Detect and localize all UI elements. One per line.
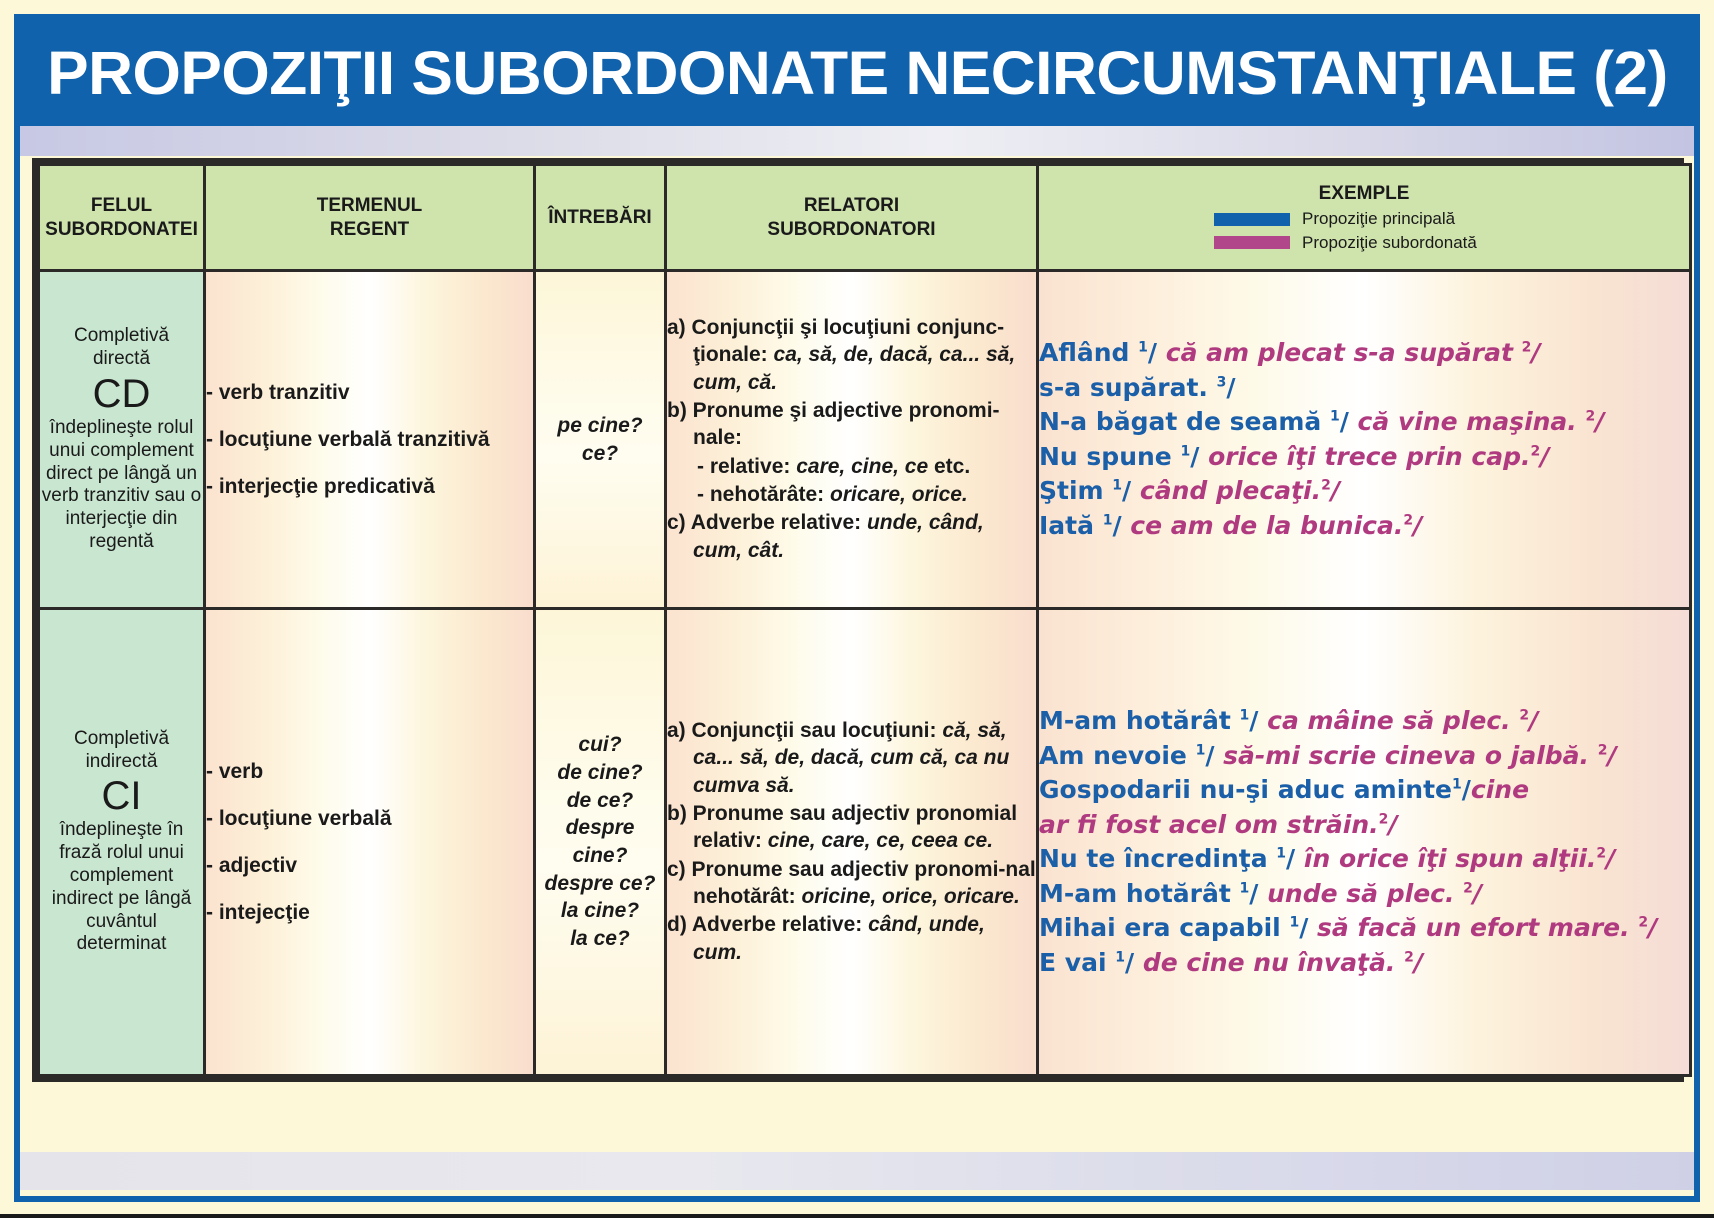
clause-principala: / [1125,948,1143,977]
exemple-title: EXEMPLE [1039,182,1689,205]
relator-lead: a) Conjuncţii sau locuţiuni: [667,719,942,742]
clause-principala: / [1122,476,1140,505]
table-row-ci: Completivă indirectă CI îndeplineşte în … [39,609,1691,1076]
clause-number: 2 [1403,512,1413,528]
question-item: la cine? [536,897,664,925]
title-banner: PROPOZIŢII SUBORDONATE NECIRCUMSTANŢIALE… [20,20,1694,126]
clause-subordonata: de cine nu învaţă. 2 [1143,948,1414,977]
header-line-1: ÎNTREBĂRI [536,206,664,229]
legend-item-principala: Propoziţie principală [1214,209,1455,230]
example-line: M-am hotărât 1/ unde să plec. 2/ [1039,877,1689,912]
clause-principala: Iată 1 [1039,511,1112,540]
kind-name-line2: directă [40,348,203,371]
clause-subordonata: / [1413,511,1422,540]
relator-lead: a) Conjuncţii şi locuţiuni conjunc- [667,316,1004,339]
clause-number: 2 [1531,443,1541,459]
example-line: Nu te încredinţa 1/ în orice îţi spun al… [1039,842,1689,877]
clause-principala: / [1190,442,1208,471]
relator-lead: d) Adverbe relative: [667,913,868,936]
decorative-band-top [20,126,1694,156]
page-title: PROPOZIŢII SUBORDONATE NECIRCUMSTANŢIALE… [47,38,1668,108]
example-line: ar fi fost acel om străin.2/ [1039,808,1689,843]
legend-swatch-blue-icon [1214,213,1290,226]
clause-subordonata: ca mâine să plec. 2 [1267,706,1529,735]
clause-subordonata: ar fi fost acel om străin.2 [1039,810,1388,839]
clause-number: 1 [1196,742,1206,758]
example-line: Iată 1/ ce am de la bunica.2/ [1039,509,1689,544]
cell-relatori-ci: a) Conjuncţii sau locuţiuni: că, să, ca.… [666,609,1038,1076]
clause-number: 2 [1463,880,1473,896]
relator-item-a: a) Conjuncţii şi locuţiuni conjunc- ţion… [667,314,1036,396]
clause-number: 2 [1522,340,1532,356]
kind-description: îndeplineşte rolul unui complement direc… [40,417,203,554]
clause-subordonata: / [1531,338,1540,367]
clause-number: 2 [1519,708,1529,724]
legend: Propoziţie principală Propoziţie subordo… [1214,209,1514,253]
relator-lead2: nale: [693,426,742,449]
header-line-2: SUBORDONATEI [40,218,203,241]
clause-principala: / [1286,844,1304,873]
header-line-1: RELATORI [667,194,1036,217]
clause-principala: / [1148,338,1166,367]
clause-principala: N-a băgat de seamă 1 [1039,407,1340,436]
legend-label-subordonata: Propoziţie subordonată [1302,233,1477,254]
clause-number: 1 [1103,512,1113,528]
clause-principala: s-a supărat. 3 [1039,373,1226,402]
term-item: - locuţiune verbală [206,807,533,831]
clause-number: 1 [1115,949,1125,965]
clause-subordonata: / [1388,810,1397,839]
clause-subordonata: să facă un efort mare. 2 [1317,913,1648,942]
clause-subordonata: că am plecat s-a supărat 2 [1166,338,1532,367]
clause-principala: M-am hotărât 1 [1039,879,1249,908]
cell-exemple-ci: M-am hotărât 1/ ca mâine să plec. 2/Am n… [1038,609,1691,1076]
relator-italic: oricine, orice, oricare. [802,885,1020,908]
table-body: Completivă directă CD îndeplineşte rolul… [39,271,1691,1076]
clause-number: 2 [1586,409,1596,425]
clause-number: 2 [1321,478,1331,494]
example-line: s-a supărat. 3/ [1039,371,1689,406]
clause-number: 1 [1138,340,1148,356]
table-row-cd: Completivă directă CD îndeplineşte rolul… [39,271,1691,609]
cell-intrebari-ci: cui? de cine? de ce? despre cine? despre… [535,609,666,1076]
clause-subordonata: unde să plec. 2 [1267,879,1473,908]
header-row: FELUL SUBORDONATEI TERMENUL REGENT ÎNTRE… [39,165,1691,271]
column-header-intrebari: ÎNTREBĂRI [535,165,666,271]
question-item: pe cine? [536,412,664,440]
kind-abbreviation-cd: CD [40,371,203,417]
clause-principala: Am nevoie 1 [1039,741,1205,770]
header-line-2: SUBORDONATORI [667,218,1036,241]
relator-lead: c) Adverbe relative: [667,511,867,534]
clause-number: 2 [1379,811,1389,827]
example-line: N-a băgat de seamă 1/ că vine maşina. 2/ [1039,405,1689,440]
question-item: la ce? [536,925,664,953]
relator-item-d: d) Adverbe relative: când, unde, cum. [667,911,1036,966]
cell-felul-ci: Completivă indirectă CI îndeplineşte în … [39,609,205,1076]
example-line: Am nevoie 1/ să-mi scrie cineva o jalbă.… [1039,739,1689,774]
term-item: - interjecţie predicativă [206,475,533,499]
clause-principala: Aflând 1 [1039,338,1148,367]
clause-subordonata: / [1540,442,1549,471]
clause-principala: / [1299,913,1317,942]
term-item: - verb tranzitiv [206,381,533,405]
term-item: - locuţiune verbală tranzitivă [206,428,533,452]
clause-subordonata: să-mi scrie cineva o jalbă. 2 [1223,741,1607,770]
cell-termenul-regent-ci: - verb - locuţiune verbală - adjectiv - … [205,609,535,1076]
relator-item-relative: - relative: care, cine, ce etc. [667,453,1036,480]
clause-subordonata: / [1473,879,1482,908]
clause-number: 2 [1404,949,1414,965]
poster-root: PROPOZIŢII SUBORDONATE NECIRCUMSTANŢIALE… [0,0,1714,1218]
relator-lead: - relative: [697,455,796,478]
header-line-1: TERMENUL [206,194,533,217]
relator-italic: care, cine, ce [796,455,934,478]
examples-list-cd: Aflând 1/ că am plecat s-a supărat 2/s-a… [1039,336,1689,543]
relator-lead: b) Pronume şi adjective pronomi- [667,399,1000,422]
clause-number: 1 [1240,708,1250,724]
clause-subordonata: când plecaţi.2 [1140,476,1331,505]
clause-number: 1 [1330,409,1340,425]
decorative-band-bottom [20,1152,1694,1190]
example-line: E vai 1/ de cine nu învaţă. 2/ [1039,946,1689,981]
relator-italic: cine, care, ce, ceea ce. [768,829,993,852]
example-line: Gospodarii nu-şi aduc aminte1/cine [1039,773,1689,808]
example-line: Ştim 1/ când plecaţi.2/ [1039,474,1689,509]
clause-principala: Gospodarii nu-şi aduc aminte1 [1039,775,1462,804]
clause-subordonata: că vine maşina. 2 [1358,407,1596,436]
column-header-exemple: EXEMPLE Propoziţie principală Propoziţie… [1038,165,1691,271]
relator-lead: - nehotărâte: [697,483,830,506]
clause-number: 3 [1217,374,1227,390]
cell-intrebari-cd: pe cine? ce? [535,271,666,609]
cell-relatori-cd: a) Conjuncţii şi locuţiuni conjunc- ţion… [666,271,1038,609]
cell-exemple-cd: Aflând 1/ că am plecat s-a supărat 2/s-a… [1038,271,1691,609]
header-line-1: FELUL [40,194,203,217]
kind-name-line1: Completivă [40,728,203,751]
relator-item-b: b) Pronume şi adjective pronomi- nale: [667,397,1036,452]
clause-subordonata: / [1529,706,1538,735]
table-header: FELUL SUBORDONATEI TERMENUL REGENT ÎNTRE… [39,165,1691,271]
question-item: de ce? [536,787,664,815]
relator-item-c: c) Adverbe relative: unde, când, cum, câ… [667,509,1036,564]
clause-subordonata: / [1595,407,1604,436]
clause-number: 2 [1638,915,1648,931]
relator-tail: etc. [934,455,970,478]
example-line: Mihai era capabil 1/ să facă un efort ma… [1039,911,1689,946]
clause-subordonata: ce am de la bunica.2 [1130,511,1413,540]
clause-principala: M-am hotărât 1 [1039,706,1249,735]
column-header-termenul-regent: TERMENUL REGENT [205,165,535,271]
clause-subordonata: în orice îţi spun alţii.2 [1304,844,1606,873]
clause-principala: / [1205,741,1223,770]
question-item: ce? [536,440,664,468]
clause-principala: Ştim 1 [1039,476,1122,505]
clause-subordonata: orice îţi trece prin cap.2 [1208,442,1540,471]
term-item: - adjectiv [206,854,533,878]
example-line: M-am hotărât 1/ ca mâine să plec. 2/ [1039,704,1689,739]
header-line-2: REGENT [206,218,533,241]
clause-number: 1 [1180,443,1190,459]
clause-principala: / [1249,879,1267,908]
legend-item-subordonata: Propoziţie subordonată [1214,233,1477,254]
legend-label-principala: Propoziţie principală [1302,209,1455,230]
clause-number: 1 [1452,777,1462,793]
table: FELUL SUBORDONATEI TERMENUL REGENT ÎNTRE… [37,163,1692,1077]
kind-name-line1: Completivă [40,325,203,348]
column-header-felul-subordonatei: FELUL SUBORDONATEI [39,165,205,271]
clause-number: 1 [1240,880,1250,896]
clause-number: 1 [1276,846,1286,862]
clause-principala: / [1340,407,1358,436]
example-line: Aflând 1/ că am plecat s-a supărat 2/ [1039,336,1689,371]
question-item: de cine? [536,759,664,787]
relator-item-c: c) Pronume sau adjectiv pronomi-nal neho… [667,856,1036,911]
term-item: - verb [206,760,533,784]
clause-number: 1 [1289,915,1299,931]
clause-principala: / [1226,373,1235,402]
cell-termenul-regent-cd: - verb tranzitiv - locuţiune verbală tra… [205,271,535,609]
clause-number: 1 [1112,478,1122,494]
clause-principala: / [1249,706,1267,735]
cell-felul-cd: Completivă directă CD îndeplineşte rolul… [39,271,205,609]
kind-description: îndeplineşte în frază rolul unui complem… [40,819,203,956]
relator-lead2: ţionale: [693,343,774,366]
kind-name-line2: indirectă [40,751,203,774]
clause-subordonata: cine [1471,775,1529,804]
clause-number: 2 [1596,846,1606,862]
question-item: despre ce? [536,870,664,898]
clause-subordonata: / [1648,913,1657,942]
clause-principala: Nu spune 1 [1039,442,1190,471]
clause-principala: Nu te încredinţa 1 [1039,844,1286,873]
relator-item-a: a) Conjuncţii sau locuţiuni: că, să, ca.… [667,717,1036,799]
clause-subordonata: / [1606,844,1615,873]
clause-subordonata: / [1607,741,1616,770]
clause-subordonata: / [1414,948,1423,977]
relator-italic: oricare, orice. [830,483,968,506]
examples-list-ci: M-am hotărât 1/ ca mâine să plec. 2/Am n… [1039,704,1689,980]
relator-item-b: b) Pronume sau adjectiv pronomial relati… [667,800,1036,855]
legend-swatch-magenta-icon [1214,236,1290,249]
question-item: despre cine? [536,814,664,869]
clause-principala: E vai 1 [1039,948,1125,977]
clause-subordonata: / [1331,476,1340,505]
clause-principala: / [1112,511,1130,540]
term-item: - intejecţie [206,901,533,925]
clause-principala: Mihai era capabil 1 [1039,913,1299,942]
example-line: Nu spune 1/ orice îţi trece prin cap.2/ [1039,440,1689,475]
question-item: cui? [536,731,664,759]
kind-abbreviation-ci: CI [40,773,203,819]
column-header-relatori-subordonatori: RELATORI SUBORDONATORI [666,165,1038,271]
clause-principala: / [1462,775,1471,804]
relator-item-nehotarate: - nehotărâte: oricare, orice. [667,481,1036,508]
grammar-table: FELUL SUBORDONATEI TERMENUL REGENT ÎNTRE… [32,158,1684,1082]
